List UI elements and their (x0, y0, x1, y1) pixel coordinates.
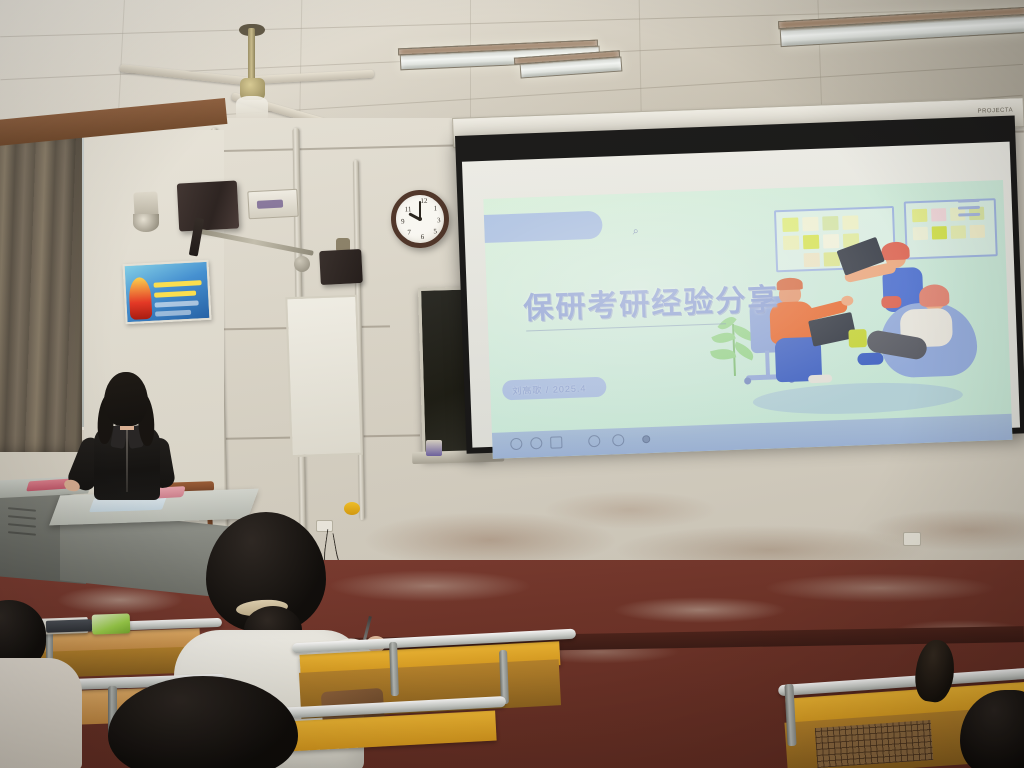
student-4-hair (960, 690, 1024, 768)
wall-speaker-right (319, 249, 363, 285)
classroom-photo: 12 1 3 5 6 7 9 11 PROJECTA (0, 0, 1024, 768)
projection-screen: 保研考研经验分享 刘高歌 / 2025.4 ⌕ (455, 115, 1024, 453)
curtain (0, 132, 82, 452)
safety-poster (122, 260, 211, 324)
presentation-slide: 保研考研经验分享 刘高歌 / 2025.4 ⌕ (483, 180, 1012, 459)
presenter-hair (104, 372, 148, 426)
small-whiteboard (285, 295, 363, 457)
dome-camera-icon (133, 214, 159, 232)
screen-brand-label: PROJECTA (977, 107, 1013, 114)
person-c-hand (881, 296, 901, 309)
presenter (86, 372, 182, 512)
wall-speaker-left (177, 180, 239, 231)
person-a-hair (776, 277, 802, 290)
electrical-box-label (257, 199, 283, 208)
student-2-hair (108, 676, 298, 768)
student-bottom-right (960, 690, 1024, 768)
chalk-box (426, 440, 442, 456)
under-desk-basket (815, 720, 934, 768)
clock-center-pin (418, 217, 422, 221)
slide-title: 保研考研经验分享 (522, 274, 779, 327)
person-c-hair (919, 284, 950, 307)
person-c-shoe (857, 352, 883, 365)
person-b-hair (881, 241, 910, 260)
person-a-hand (841, 296, 853, 306)
illustration-floor (752, 380, 963, 418)
power-outlet-right[interactable] (903, 532, 921, 546)
presenter-jacket-zipper (126, 430, 128, 492)
student-foreground (108, 676, 298, 768)
student-3-jacket (0, 658, 82, 768)
green-tissue-package[interactable] (92, 613, 131, 634)
sticky-board-right (904, 198, 998, 259)
projector-arm-joint (294, 256, 310, 272)
mouse-cursor-icon: ⌕ (632, 225, 639, 238)
student-left-edge (0, 600, 92, 768)
electrical-box (247, 189, 298, 220)
slide-subtitle: 刘高歌 / 2025.4 (512, 381, 586, 397)
flame-graphic-icon (128, 277, 152, 320)
mug-icon (848, 329, 867, 348)
menu-icon[interactable] (958, 199, 981, 221)
person-a-shoe (808, 374, 832, 383)
screen-surface: 保研考研经验分享 刘高歌 / 2025.4 ⌕ (462, 142, 1020, 448)
